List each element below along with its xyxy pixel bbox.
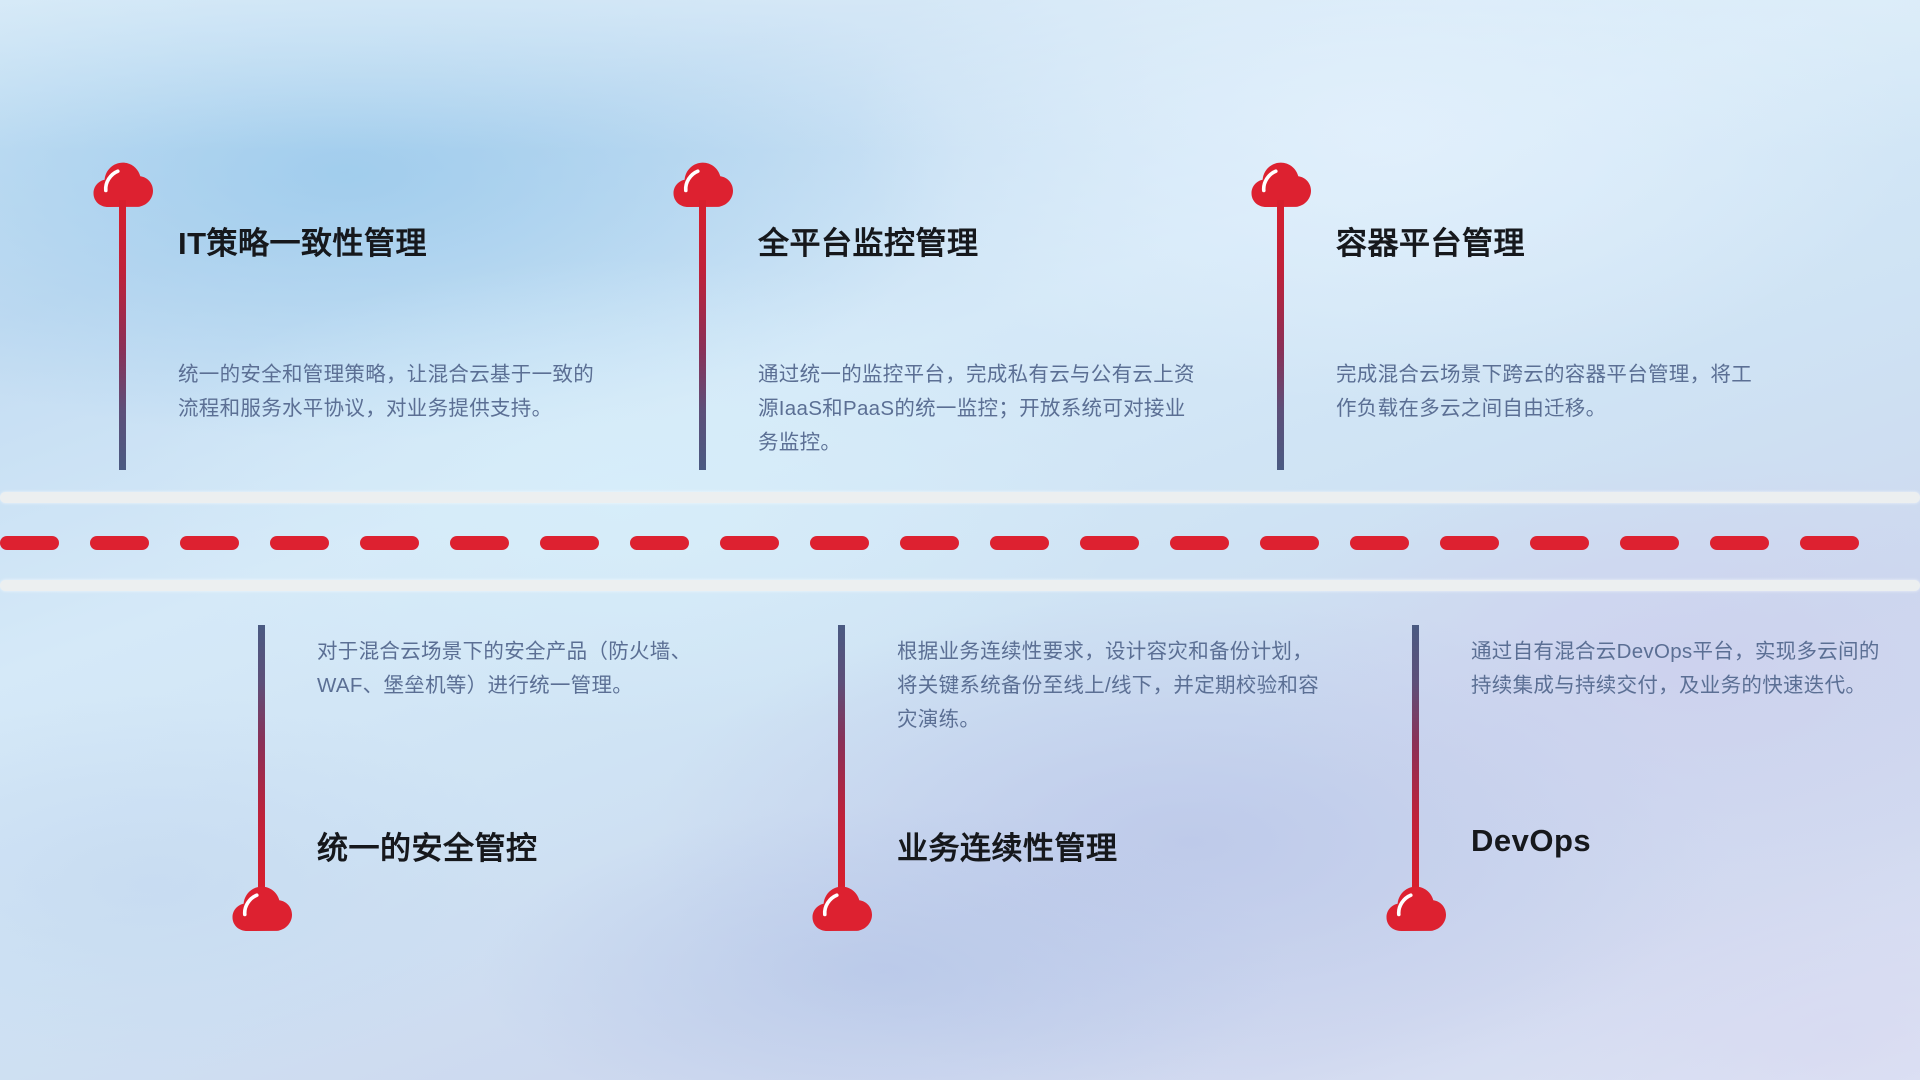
road-dash (1530, 536, 1589, 550)
cloud-icon (811, 884, 873, 932)
column-body: 完成混合云场景下跨云的容器平台管理，将工作负载在多云之间自由迁移。 (1336, 358, 1766, 426)
road-dash (1440, 536, 1499, 550)
road-dash (900, 536, 959, 550)
road-edge-top (0, 492, 1920, 503)
column-title: 业务连续性管理 (897, 823, 1118, 868)
cloud-icon (231, 884, 293, 932)
road-dash (1170, 536, 1229, 550)
column-body: 统一的安全和管理策略，让混合云基于一致的流程和服务水平协议，对业务提供支持。 (178, 358, 608, 426)
road-divider (0, 492, 1920, 592)
road-dash (1800, 536, 1859, 550)
cloud-icon (1385, 884, 1447, 932)
road-dash (0, 536, 59, 550)
column-title: 统一的安全管控 (317, 823, 538, 868)
column-title: DevOps (1471, 823, 1591, 859)
road-dash (450, 536, 509, 550)
road-dash (1620, 536, 1679, 550)
road-dash (1710, 536, 1769, 550)
pin-line (1412, 625, 1419, 887)
road-dash (1260, 536, 1319, 550)
column-body: 对于混合云场景下的安全产品（防火墙、WAF、堡垒机等）进行统一管理。 (317, 635, 747, 703)
road-dashed-line (0, 536, 1920, 550)
column-title: IT策略一致性管理 (178, 218, 427, 263)
column-body: 根据业务连续性要求，设计容灾和备份计划，将关键系统备份至线上/线下，并定期校验和… (897, 635, 1327, 737)
road-dash (180, 536, 239, 550)
road-edge-bottom (0, 580, 1920, 591)
column-title: 容器平台管理 (1336, 218, 1525, 263)
pin-line (258, 625, 265, 887)
road-dash (630, 536, 689, 550)
column-body: 通过自有混合云DevOps平台，实现多云间的持续集成与持续交付，及业务的快速迭代… (1471, 635, 1896, 703)
column-title: 全平台监控管理 (758, 218, 979, 263)
road-dash (1080, 536, 1139, 550)
pin-line (838, 625, 845, 887)
road-dash (720, 536, 779, 550)
pin-line (699, 200, 706, 470)
road-dash (990, 536, 1049, 550)
road-dash (810, 536, 869, 550)
pin-line (119, 200, 126, 470)
road-dash (540, 536, 599, 550)
column-body: 通过统一的监控平台，完成私有云与公有云上资源IaaS和PaaS的统一监控；开放系… (758, 358, 1198, 460)
road-dash (270, 536, 329, 550)
infographic-canvas: IT策略一致性管理 统一的安全和管理策略，让混合云基于一致的流程和服务水平协议，… (0, 0, 1920, 1080)
road-dash (90, 536, 149, 550)
road-dash (1350, 536, 1409, 550)
road-dash (360, 536, 419, 550)
pin-line (1277, 200, 1284, 470)
